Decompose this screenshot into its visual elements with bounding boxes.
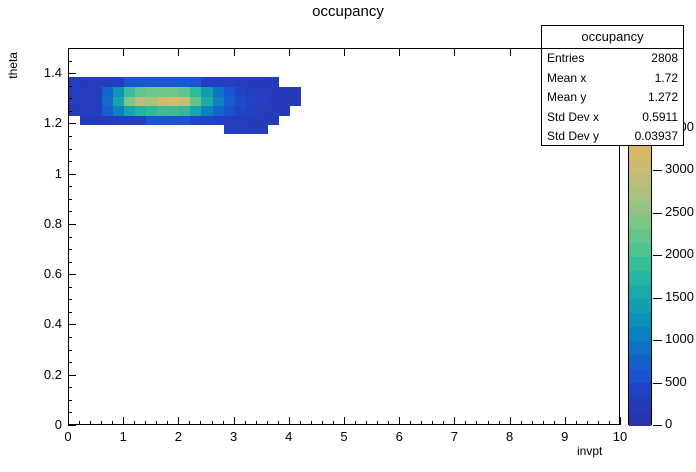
color-scale-segment <box>629 215 651 230</box>
y-minor-tick <box>68 149 72 150</box>
y-tick <box>68 224 76 225</box>
statistics-value: 1.72 <box>655 69 678 89</box>
x-minor-tick <box>377 421 378 425</box>
x-tick <box>399 417 400 425</box>
color-scale-tick <box>653 425 662 426</box>
color-scale-segment <box>629 257 651 272</box>
heatmap-cell <box>168 77 180 87</box>
heatmap-cell <box>146 115 158 125</box>
y-minor-tick <box>68 287 72 288</box>
x-minor-tick <box>189 421 190 425</box>
statistics-row: Entries2808 <box>542 49 683 69</box>
y-tick-label: 1.4 <box>18 65 62 80</box>
x-minor-tick <box>366 421 367 425</box>
heatmap-cell <box>235 87 247 97</box>
statistics-value: 2808 <box>651 49 678 69</box>
heatmap-cell <box>102 115 114 125</box>
x-tick <box>565 417 566 425</box>
color-scale-segment <box>629 369 651 384</box>
x-tick-top <box>289 48 290 56</box>
heatmap-cell <box>213 77 225 87</box>
y-minor-tick <box>68 350 72 351</box>
y-tick-label: 0.2 <box>18 367 62 382</box>
x-tick-top <box>123 48 124 56</box>
statistics-row: Std Dev y0.03937 <box>542 127 683 147</box>
y-minor-tick <box>68 161 72 162</box>
heatmap-cell <box>235 96 247 106</box>
heatmap-cell <box>80 87 92 97</box>
y-tick-label: 1.2 <box>18 115 62 130</box>
heatmap-cell <box>190 77 202 87</box>
color-scale-segment <box>629 341 651 356</box>
color-scale-tick-label: 500 <box>665 374 687 389</box>
heatmap-cell <box>201 106 213 116</box>
x-tick-top <box>178 48 179 56</box>
heatmap-cell <box>179 106 191 116</box>
heatmap-cell <box>113 106 125 116</box>
heatmap-cell <box>279 87 291 97</box>
heatmap-cell <box>179 115 191 125</box>
x-minor-tick <box>278 421 279 425</box>
color-scale-tick-label: 1500 <box>665 289 694 304</box>
heatmap-cell <box>257 115 269 125</box>
x-minor-tick <box>90 421 91 425</box>
heatmap-cell <box>246 115 258 125</box>
y-minor-tick <box>68 412 72 413</box>
heatmap-cell <box>224 77 236 87</box>
heatmap-cell <box>157 106 169 116</box>
color-scale-tick-label: 2000 <box>665 246 694 261</box>
x-minor-tick <box>333 421 334 425</box>
heatmap-cell <box>290 96 302 106</box>
y-minor-tick <box>68 299 72 300</box>
x-tick-top <box>399 48 400 56</box>
heatmap-cell <box>190 96 202 106</box>
heatmap-cell <box>257 96 269 106</box>
x-minor-tick <box>410 421 411 425</box>
heatmap-cell <box>224 106 236 116</box>
statistics-key: Std Dev y <box>547 127 599 147</box>
y-tick <box>68 174 76 175</box>
statistics-row: Std Dev x0.5911 <box>542 108 683 128</box>
heatmap-cell <box>224 96 236 106</box>
x-minor-tick <box>79 421 80 425</box>
heatmap-cell <box>179 96 191 106</box>
heatmap-cell <box>102 96 114 106</box>
y-tick-label: 1 <box>18 166 62 181</box>
x-tick-label: 3 <box>214 429 254 444</box>
heatmap-cell <box>124 106 136 116</box>
heatmap-cell <box>190 106 202 116</box>
heatmap-cell <box>102 87 114 97</box>
heatmap-cell <box>113 115 125 125</box>
color-scale-segment <box>629 243 651 258</box>
x-tick-label: 1 <box>103 429 143 444</box>
x-minor-tick <box>256 421 257 425</box>
heatmap-cell <box>268 96 280 106</box>
heatmap-cell <box>224 87 236 97</box>
y-tick <box>68 274 76 275</box>
heatmap-cell <box>157 87 169 97</box>
y-axis-title: theta <box>6 52 20 79</box>
x-tick-top <box>454 48 455 56</box>
heatmap-cell <box>235 124 247 134</box>
x-tick-label: 8 <box>490 429 530 444</box>
x-tick-label: 6 <box>379 429 419 444</box>
color-scale-segment <box>629 327 651 342</box>
x-tick <box>234 417 235 425</box>
heatmap-cell <box>102 77 114 87</box>
heatmap-cell <box>246 77 258 87</box>
heatmap-cell <box>268 115 280 125</box>
x-minor-tick <box>145 421 146 425</box>
heatmap-cell <box>246 96 258 106</box>
statistics-key: Mean x <box>547 69 586 89</box>
x-tick <box>123 417 124 425</box>
plot-frame <box>68 48 620 425</box>
x-tick-label: 4 <box>269 429 309 444</box>
heatmap-cell <box>279 106 291 116</box>
x-minor-tick <box>245 421 246 425</box>
heatmap-cell <box>91 115 103 125</box>
y-minor-tick <box>68 337 72 338</box>
x-tick <box>454 417 455 425</box>
heatmap-cell <box>190 87 202 97</box>
color-scale-segment <box>629 187 651 202</box>
heatmap-cell <box>246 124 258 134</box>
x-minor-tick <box>476 421 477 425</box>
heatmap-cell <box>157 96 169 106</box>
y-minor-tick <box>68 312 72 313</box>
color-scale-tick-label: 0 <box>665 416 672 431</box>
y-tick-label: 0 <box>18 417 62 432</box>
color-scale-bar <box>628 145 652 425</box>
color-scale-tick-label: 1000 <box>665 331 694 346</box>
x-minor-tick <box>223 421 224 425</box>
heatmap-cell <box>257 106 269 116</box>
heatmap-cell <box>80 106 92 116</box>
x-minor-tick <box>587 421 588 425</box>
heatmap-cell <box>146 77 158 87</box>
y-minor-tick <box>68 61 72 62</box>
x-tick-label: 5 <box>324 429 364 444</box>
heatmap-cell <box>213 115 225 125</box>
heatmap-cell <box>213 106 225 116</box>
y-minor-tick <box>68 211 72 212</box>
y-minor-tick <box>68 199 72 200</box>
heatmap-cell <box>146 96 158 106</box>
y-tick-label: 0.4 <box>18 316 62 331</box>
heatmap-cell <box>179 87 191 97</box>
statistics-value: 1.272 <box>648 88 678 108</box>
heatmap-cell <box>201 115 213 125</box>
x-tick-top <box>344 48 345 56</box>
x-tick <box>510 417 511 425</box>
heatmap-cell <box>201 96 213 106</box>
color-scale-tick <box>653 213 662 214</box>
x-minor-tick <box>443 421 444 425</box>
heatmap-cell <box>157 77 169 87</box>
heatmap-cell <box>279 96 291 106</box>
x-tick-label: 10 <box>600 429 640 444</box>
x-minor-tick <box>388 421 389 425</box>
color-scale-tick <box>653 383 662 384</box>
x-tick <box>289 417 290 425</box>
x-minor-tick <box>212 421 213 425</box>
x-minor-tick <box>200 421 201 425</box>
x-minor-tick <box>465 421 466 425</box>
heatmap-cell <box>135 115 147 125</box>
x-minor-tick <box>156 421 157 425</box>
y-minor-tick <box>68 136 72 137</box>
statistics-rows: Entries2808Mean x1.72Mean y1.272Std Dev … <box>542 49 683 147</box>
statistics-row: Mean x1.72 <box>542 69 683 89</box>
y-tick-label: 0.8 <box>18 216 62 231</box>
y-minor-tick <box>68 262 72 263</box>
heatmap-cell <box>168 115 180 125</box>
color-scale-segment <box>629 355 651 370</box>
y-minor-tick <box>68 86 72 87</box>
heatmap-cell <box>135 87 147 97</box>
y-minor-tick <box>68 186 72 187</box>
y-minor-tick <box>68 249 72 250</box>
x-minor-tick <box>432 421 433 425</box>
x-tick <box>344 417 345 425</box>
x-minor-tick <box>355 421 356 425</box>
x-axis-title: invpt <box>577 444 602 458</box>
heatmap-cell <box>91 77 103 87</box>
heatmap-cell <box>201 87 213 97</box>
y-minor-tick <box>68 111 72 112</box>
x-minor-tick <box>499 421 500 425</box>
x-minor-tick <box>532 421 533 425</box>
x-minor-tick <box>322 421 323 425</box>
statistics-key: Entries <box>547 49 584 69</box>
heatmap-cell <box>268 87 280 97</box>
x-tick <box>620 417 621 425</box>
heatmap-cell <box>246 87 258 97</box>
statistics-value: 0.5911 <box>642 108 678 128</box>
heatmap-cell <box>124 77 136 87</box>
x-minor-tick <box>134 421 135 425</box>
heatmap-cell <box>135 77 147 87</box>
color-scale-segment <box>629 299 651 314</box>
heatmap-cell <box>113 77 125 87</box>
x-minor-tick <box>101 421 102 425</box>
x-minor-tick <box>167 421 168 425</box>
color-scale-segment <box>629 201 651 216</box>
color-scale-segment <box>629 285 651 300</box>
root-canvas: occupancy 012345678910 00.20.40.60.811.2… <box>0 0 696 472</box>
y-minor-tick <box>68 98 72 99</box>
heatmap-cell <box>146 87 158 97</box>
color-scale-segment <box>629 313 651 328</box>
x-minor-tick <box>576 421 577 425</box>
color-scale-tick <box>653 340 662 341</box>
heatmap-cell <box>179 77 191 87</box>
color-scale-segment <box>629 173 651 188</box>
heatmap-cell <box>168 106 180 116</box>
y-tick-label: 0.6 <box>18 266 62 281</box>
heatmap-cell <box>224 115 236 125</box>
heatmap-cell <box>257 124 269 134</box>
x-tick <box>178 417 179 425</box>
x-minor-tick <box>300 421 301 425</box>
color-scale-segment <box>629 411 651 426</box>
color-scale-segment <box>629 229 651 244</box>
heatmap-cell <box>290 87 302 97</box>
x-minor-tick <box>488 421 489 425</box>
x-minor-tick <box>554 421 555 425</box>
statistics-key: Mean y <box>547 88 586 108</box>
y-tick <box>68 425 76 426</box>
color-scale-segment <box>629 271 651 286</box>
heatmap-cell <box>69 87 81 97</box>
color-scale-tick <box>653 298 662 299</box>
statistics-key: Std Dev x <box>547 108 599 128</box>
y-minor-tick <box>68 362 72 363</box>
statistics-box-title: occupancy <box>542 26 683 49</box>
heatmap-cell <box>135 96 147 106</box>
x-tick-label: 9 <box>545 429 585 444</box>
y-minor-tick <box>68 400 72 401</box>
heatmap-cell <box>268 106 280 116</box>
x-tick-label: 7 <box>434 429 474 444</box>
heatmap-cell <box>168 96 180 106</box>
x-minor-tick <box>609 421 610 425</box>
statistics-box: occupancy Entries2808Mean x1.72Mean y1.2… <box>541 25 684 146</box>
heatmap-cell <box>257 77 269 87</box>
x-minor-tick <box>521 421 522 425</box>
y-tick <box>68 324 76 325</box>
heatmap-cell <box>91 87 103 97</box>
x-tick-top <box>68 48 69 56</box>
heatmap-cell <box>113 87 125 97</box>
color-scale-tick <box>653 255 662 256</box>
heatmap-cell <box>157 115 169 125</box>
page-title: occupancy <box>0 3 696 20</box>
x-minor-tick <box>311 421 312 425</box>
x-tick-top <box>510 48 511 56</box>
color-scale-segment <box>629 145 651 160</box>
color-scale-tick-label: 3000 <box>665 161 694 176</box>
heatmap-cell <box>80 96 92 106</box>
x-tick-top <box>234 48 235 56</box>
statistics-row: Mean y1.272 <box>542 88 683 108</box>
color-scale-tick-label: 2500 <box>665 204 694 219</box>
heatmap-cell <box>80 115 92 125</box>
color-scale-segment <box>629 397 651 412</box>
statistics-value: 0.03937 <box>635 127 678 147</box>
x-minor-tick <box>112 421 113 425</box>
heatmap-cell <box>124 96 136 106</box>
heatmap-cell <box>224 124 236 134</box>
heatmap-cell <box>80 77 92 87</box>
heatmap-cell <box>91 106 103 116</box>
heatmap-cell <box>213 87 225 97</box>
heatmap-cell <box>235 77 247 87</box>
x-minor-tick <box>421 421 422 425</box>
x-tick-label: 2 <box>158 429 198 444</box>
y-tick <box>68 73 76 74</box>
heatmap-cell <box>268 77 280 87</box>
x-minor-tick <box>267 421 268 425</box>
color-scale-tick <box>653 170 662 171</box>
heatmap-cell <box>124 115 136 125</box>
heatmap-cell <box>235 106 247 116</box>
y-tick <box>68 123 76 124</box>
color-scale-segment <box>629 159 651 174</box>
heatmap-cell <box>113 96 125 106</box>
heatmap-cell <box>213 96 225 106</box>
x-minor-tick <box>543 421 544 425</box>
heatmap-cell <box>190 115 202 125</box>
y-tick <box>68 375 76 376</box>
heatmap-cell <box>124 87 136 97</box>
heatmap-cell <box>146 106 158 116</box>
color-scale-segment <box>629 383 651 398</box>
heatmap-cell <box>102 106 114 116</box>
heatmap-cell <box>257 87 269 97</box>
x-minor-tick <box>598 421 599 425</box>
heatmap-cell <box>168 87 180 97</box>
heatmap-area <box>69 49 619 424</box>
heatmap-cell <box>246 106 258 116</box>
y-minor-tick <box>68 237 72 238</box>
heatmap-cell <box>235 115 247 125</box>
heatmap-cell <box>135 106 147 116</box>
y-minor-tick <box>68 387 72 388</box>
heatmap-cell <box>91 96 103 106</box>
heatmap-cell <box>201 77 213 87</box>
x-tick <box>68 417 69 425</box>
